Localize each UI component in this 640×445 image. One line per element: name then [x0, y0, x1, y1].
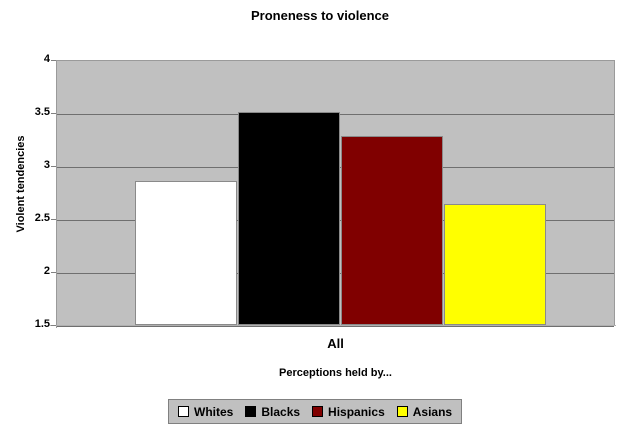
legend-label: Blacks	[261, 406, 300, 418]
legend-item-asians[interactable]: Asians	[397, 406, 452, 418]
y-axis-tick-label: 2	[8, 266, 50, 277]
legend-swatch-icon	[397, 406, 408, 417]
gridline	[57, 326, 614, 327]
chart-title: Proneness to violence	[0, 8, 640, 23]
y-axis-tick-mark	[51, 219, 56, 220]
y-axis-tick-mark	[51, 113, 56, 114]
x-axis-title: Perceptions held by...	[56, 367, 615, 379]
legend-swatch-icon	[245, 406, 256, 417]
legend-item-blacks[interactable]: Blacks	[245, 406, 300, 418]
bar-hispanics[interactable]	[341, 136, 443, 325]
chart-legend: WhitesBlacksHispanicsAsians	[168, 399, 462, 424]
bar-asians[interactable]	[444, 204, 546, 325]
legend-label: Hispanics	[328, 406, 385, 418]
y-axis-tick-labels: 43.532.521.5	[6, 0, 50, 445]
legend-item-whites[interactable]: Whites	[178, 406, 233, 418]
category-axis-line	[50, 325, 616, 326]
plot-area	[56, 60, 615, 325]
legend-swatch-icon	[312, 406, 323, 417]
bar-blacks[interactable]	[238, 112, 340, 325]
y-axis-tick-label: 3	[8, 160, 50, 171]
y-axis-tick-mark	[51, 166, 56, 167]
bar-whites[interactable]	[135, 181, 237, 325]
y-axis-tick-mark	[51, 325, 56, 326]
y-axis-tick-mark	[51, 272, 56, 273]
legend-item-hispanics[interactable]: Hispanics	[312, 406, 385, 418]
y-axis-tick-label: 4	[8, 54, 50, 65]
bar-chart: Proneness to violence Violent tendencies…	[0, 0, 640, 445]
y-axis-tick-mark	[51, 60, 56, 61]
legend-label: Asians	[413, 406, 452, 418]
category-label: All	[56, 336, 615, 351]
y-axis-tick-label: 3.5	[8, 107, 50, 118]
y-axis-tick-label: 2.5	[8, 213, 50, 224]
legend-label: Whites	[194, 406, 233, 418]
legend-swatch-icon	[178, 406, 189, 417]
y-axis-tick-label: 1.5	[8, 319, 50, 330]
